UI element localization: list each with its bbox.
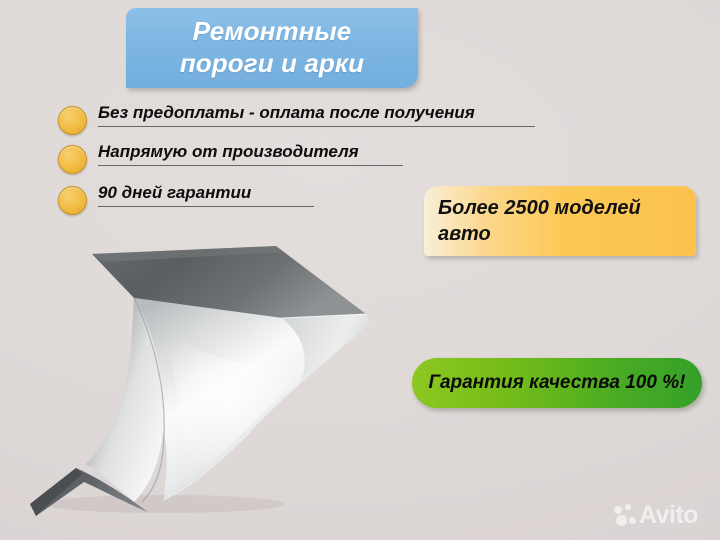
avito-dots-icon	[614, 503, 638, 527]
quality-guarantee-badge: Гарантия качества 100 %!	[412, 358, 702, 408]
models-count-box: Более 2500 моделей авто	[424, 186, 696, 256]
bullet-dot-icon	[58, 186, 87, 215]
list-item-label: 90 дней гарантии	[98, 184, 314, 201]
list-item-label: Без предоплаты - оплата после получения	[98, 104, 535, 121]
headline-text: Ремонтные пороги и арки	[180, 16, 364, 79]
list-item-body: 90 дней гарантии	[98, 184, 314, 209]
underline-rule	[98, 206, 314, 207]
underline-rule	[98, 165, 403, 166]
list-item-body: Без предоплаты - оплата после получения	[98, 104, 535, 129]
underline-rule	[98, 126, 535, 127]
quality-guarantee-label: Гарантия качества 100 %!	[429, 372, 686, 394]
list-item-label: Напрямую от производителя	[98, 143, 403, 160]
list-item: Без предоплаты - оплата после получения	[58, 104, 578, 135]
headline-banner: Ремонтные пороги и арки	[126, 8, 418, 88]
product-photo	[14, 236, 384, 532]
avito-watermark: Avito	[614, 498, 712, 532]
avito-wordmark: Avito	[639, 503, 698, 528]
list-item: Напрямую от производителя	[58, 143, 578, 174]
models-count-label: Более 2500 моделей авто	[424, 195, 655, 247]
advertisement-image: Ремонтные пороги и арки Без предоплаты -…	[0, 0, 720, 540]
list-item-body: Напрямую от производителя	[98, 143, 403, 168]
bullet-dot-icon	[58, 145, 87, 174]
bullet-dot-icon	[58, 106, 87, 135]
